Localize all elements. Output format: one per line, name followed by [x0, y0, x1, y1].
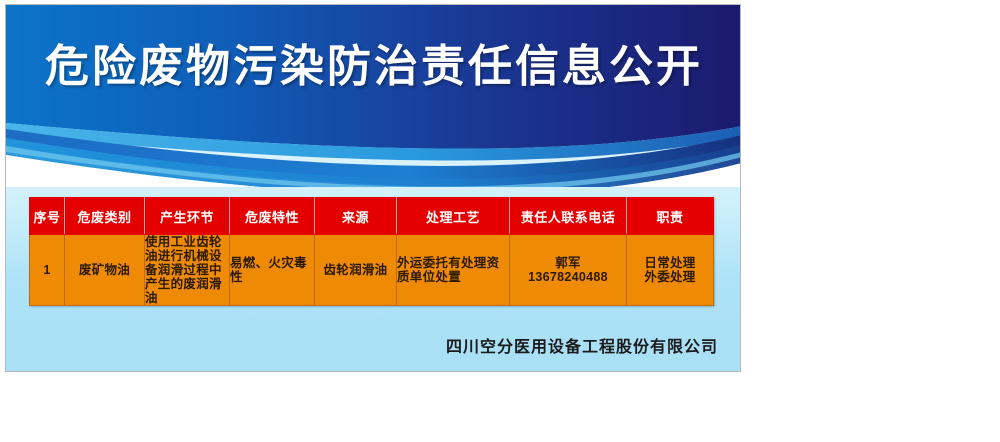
information-disclosure-poster: 危险废物污染防治责任信息公开 序号 危废类别 产生环节 危废特性 来源 处理工艺… [5, 4, 741, 372]
column-header-process: 处理工艺 [397, 198, 510, 235]
cell-source: 齿轮润滑油 [315, 235, 397, 306]
cell-process: 外运委托有处理资质单位处置 [397, 235, 510, 306]
cell-category: 废矿物油 [65, 235, 145, 306]
company-name: 四川空分医用设备工程股份有限公司 [6, 333, 718, 357]
cell-link: 使用工业齿轮油进行机械设备润滑过程中产生的废润滑油 [145, 235, 230, 306]
table-header-row: 序号 危废类别 产生环节 危废特性 来源 处理工艺 责任人联系电话 职责 [30, 198, 714, 235]
person-name: 郭军 [510, 256, 626, 270]
column-header-character: 危废特性 [230, 198, 315, 235]
cell-duty: 日常处理 外委处理 [627, 235, 714, 306]
cell-character: 易燃、火灾毒性 [230, 235, 315, 306]
table-row: 1 废矿物油 使用工业齿轮油进行机械设备润滑过程中产生的废润滑油 易燃、火灾毒性… [30, 235, 714, 306]
column-header-category: 危废类别 [65, 198, 145, 235]
poster-banner: 危险废物污染防治责任信息公开 [6, 5, 741, 187]
person-phone: 13678240488 [510, 270, 626, 284]
column-header-source: 来源 [315, 198, 397, 235]
column-header-duty: 职责 [627, 198, 714, 235]
column-header-phone: 责任人联系电话 [510, 198, 627, 235]
hazardous-waste-table: 序号 危废类别 产生环节 危废特性 来源 处理工艺 责任人联系电话 职责 1 废… [29, 197, 714, 306]
cell-person: 郭军 13678240488 [510, 235, 627, 306]
page-title: 危险废物污染防治责任信息公开 [6, 45, 741, 89]
cell-serial: 1 [30, 235, 65, 306]
banner-wave-graphic [6, 5, 741, 187]
column-header-link: 产生环节 [145, 198, 230, 235]
column-header-serial: 序号 [30, 198, 65, 235]
